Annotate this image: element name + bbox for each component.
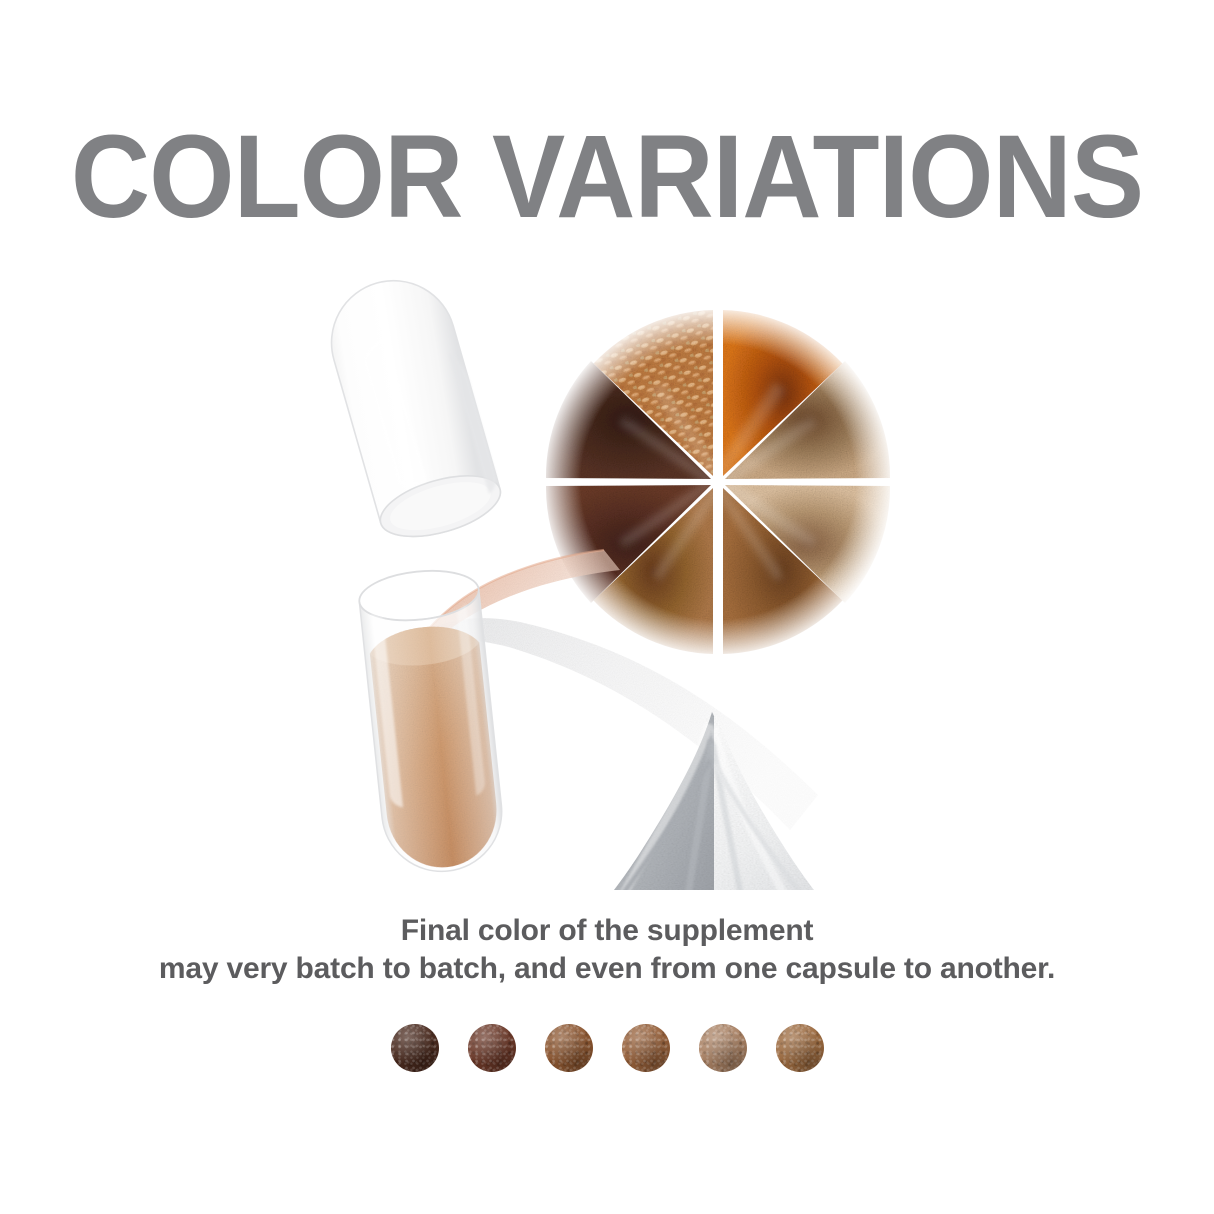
poster-canvas: COLOR VARIATIONS: [0, 0, 1214, 1214]
capsule-body: [357, 565, 508, 877]
caption-line-1: Final color of the supplement: [0, 912, 1214, 950]
swatch-shading: [776, 1024, 824, 1072]
swatch-shading: [545, 1024, 593, 1072]
swatch-shading: [391, 1024, 439, 1072]
product-illustration: [0, 250, 1214, 890]
color-swatch-swatch-4-warm: [622, 1024, 670, 1072]
caption-line-2: may very batch to batch, and even from o…: [0, 950, 1214, 988]
white-powder-pile: [564, 712, 860, 890]
page-title: COLOR VARIATIONS: [42, 118, 1171, 236]
color-swatch-swatch-2-dark: [468, 1024, 516, 1072]
color-swatch-strip: [0, 1018, 1214, 1078]
caption: Final color of the supplement may very b…: [0, 912, 1214, 988]
color-wheel: [542, 306, 894, 658]
swatch-shading: [699, 1024, 747, 1072]
swatch-shading: [468, 1024, 516, 1072]
color-swatch-swatch-6-golden: [776, 1024, 824, 1072]
capsule-cap: [317, 266, 508, 548]
swatch-shading: [622, 1024, 670, 1072]
color-swatch-swatch-5-light: [699, 1024, 747, 1072]
color-swatch-swatch-1-darkest: [391, 1024, 439, 1072]
color-swatch-swatch-3-medium: [545, 1024, 593, 1072]
wheel-rim-halo: [542, 306, 894, 658]
